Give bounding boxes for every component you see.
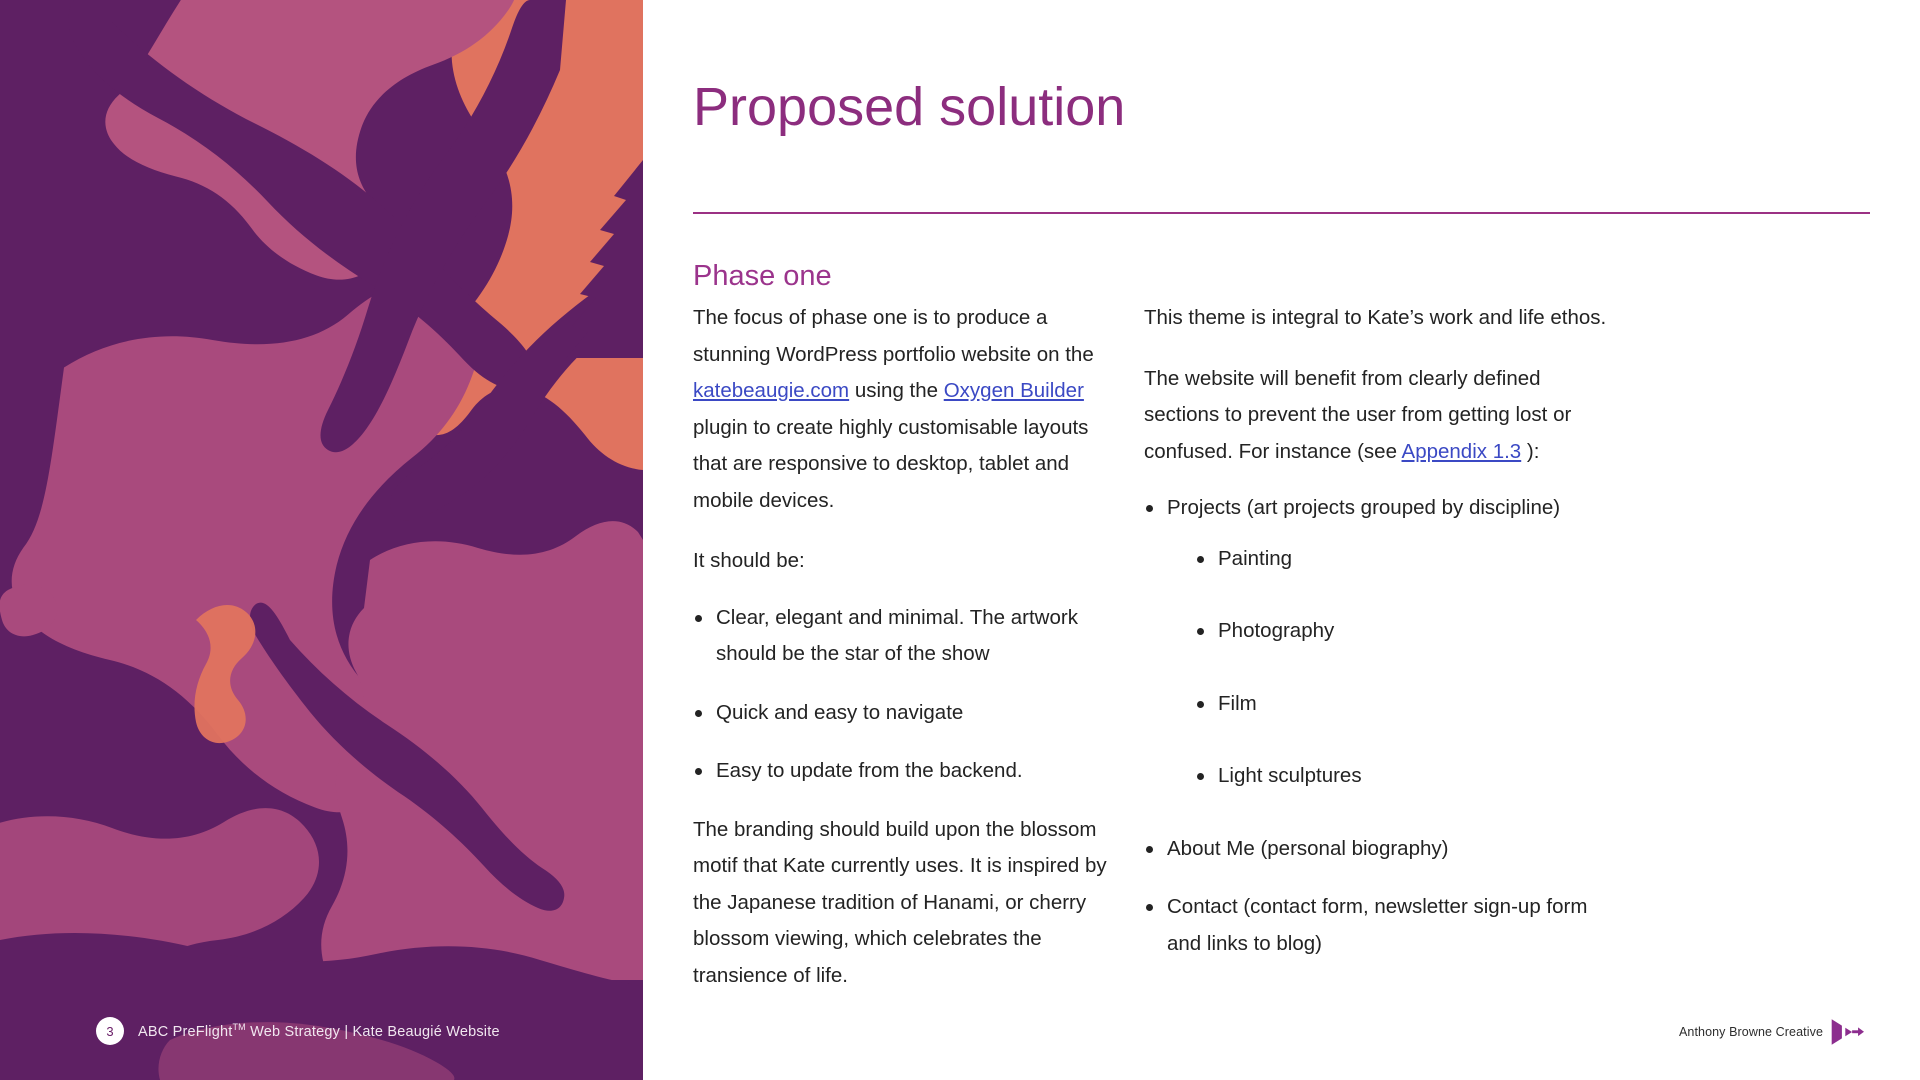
right-paragraph-2: The website will benefit from clearly de… xyxy=(1144,361,1614,471)
left-paragraph-1-text-4: plugin to create highly customisable lay… xyxy=(693,416,1088,512)
brand-name: Anthony Browne Creative xyxy=(1679,1025,1823,1039)
blossom-artwork-panel: 3 ABC PreFlightTM Web Strategy | Kate Be… xyxy=(0,0,643,1080)
right-paragraph-1: This theme is integral to Kate’s work an… xyxy=(1144,300,1614,337)
left-text-column: The focus of phase one is to produce a s… xyxy=(693,300,1123,1018)
right-sub-bullet-item: Film xyxy=(1195,686,1614,723)
left-bullet-list: Clear, elegant and minimal. The artwork … xyxy=(693,600,1123,790)
right-bullet-list: Projects (art projects grouped by discip… xyxy=(1144,490,1614,962)
title-divider xyxy=(693,212,1870,214)
footer-label-main: ABC PreFlight xyxy=(138,1024,232,1040)
right-bullet-label: About Me (personal biography) xyxy=(1167,837,1448,860)
right-bullet-item: Contact (contact form, newsletter sign-u… xyxy=(1144,889,1614,962)
right-bullet-item: About Me (personal biography) xyxy=(1144,831,1614,868)
footer-label-rest: Web Strategy | Kate Beaugié Website xyxy=(246,1024,500,1040)
left-paragraph-1-text-0: The focus of phase one is to produce a s… xyxy=(693,306,1094,366)
right-sub-bullet-list: PaintingPhotographyFilmLight sculptures xyxy=(1167,541,1614,795)
brand-lockup: Anthony Browne Creative xyxy=(1679,1017,1864,1047)
left-paragraph-3: The branding should build upon the bloss… xyxy=(693,812,1123,995)
right-sub-bullet-item: Painting xyxy=(1195,541,1614,578)
slide-content: Proposed solution Phase one The focus of… xyxy=(643,0,1920,1080)
play-arrow-logo-icon xyxy=(1830,1017,1864,1047)
left-paragraph-1-text-2: using the xyxy=(849,379,944,402)
page-title: Proposed solution xyxy=(693,78,1125,137)
left-paragraph-1-link-3[interactable]: Oxygen Builder xyxy=(944,379,1084,402)
trademark-symbol: TM xyxy=(232,1022,245,1032)
right-paragraph-2-text-2: ): xyxy=(1521,440,1539,463)
right-bullet-label: Projects (art projects grouped by discip… xyxy=(1167,496,1560,519)
page-number: 3 xyxy=(106,1025,113,1038)
left-bullet-item: Easy to update from the backend. xyxy=(693,753,1123,790)
right-sub-bullet-item: Photography xyxy=(1195,613,1614,650)
footer-label: ABC PreFlightTM Web Strategy | Kate Beau… xyxy=(138,1022,500,1040)
left-bullet-item: Quick and easy to navigate xyxy=(693,695,1123,732)
left-paragraph-1-link-1[interactable]: katebeaugie.com xyxy=(693,379,849,402)
right-text-column: This theme is integral to Kate’s work an… xyxy=(1144,300,1614,984)
right-paragraph-2-link-1[interactable]: Appendix 1.3 xyxy=(1402,440,1522,463)
blossom-artwork-svg xyxy=(0,0,643,1080)
left-bullet-item: Clear, elegant and minimal. The artwork … xyxy=(693,600,1123,673)
section-heading: Phase one xyxy=(693,259,832,294)
right-bullet-label: Contact (contact form, newsletter sign-u… xyxy=(1167,895,1587,955)
right-bullet-item: Projects (art projects grouped by discip… xyxy=(1144,490,1614,795)
right-sub-bullet-item: Light sculptures xyxy=(1195,758,1614,795)
left-paragraph-1: The focus of phase one is to produce a s… xyxy=(693,300,1123,519)
slide: 3 ABC PreFlightTM Web Strategy | Kate Be… xyxy=(0,0,1920,1080)
left-paragraph-2: It should be: xyxy=(693,543,1123,580)
page-number-badge: 3 xyxy=(96,1017,124,1045)
slide-footer: 3 ABC PreFlightTM Web Strategy | Kate Be… xyxy=(96,1017,500,1045)
